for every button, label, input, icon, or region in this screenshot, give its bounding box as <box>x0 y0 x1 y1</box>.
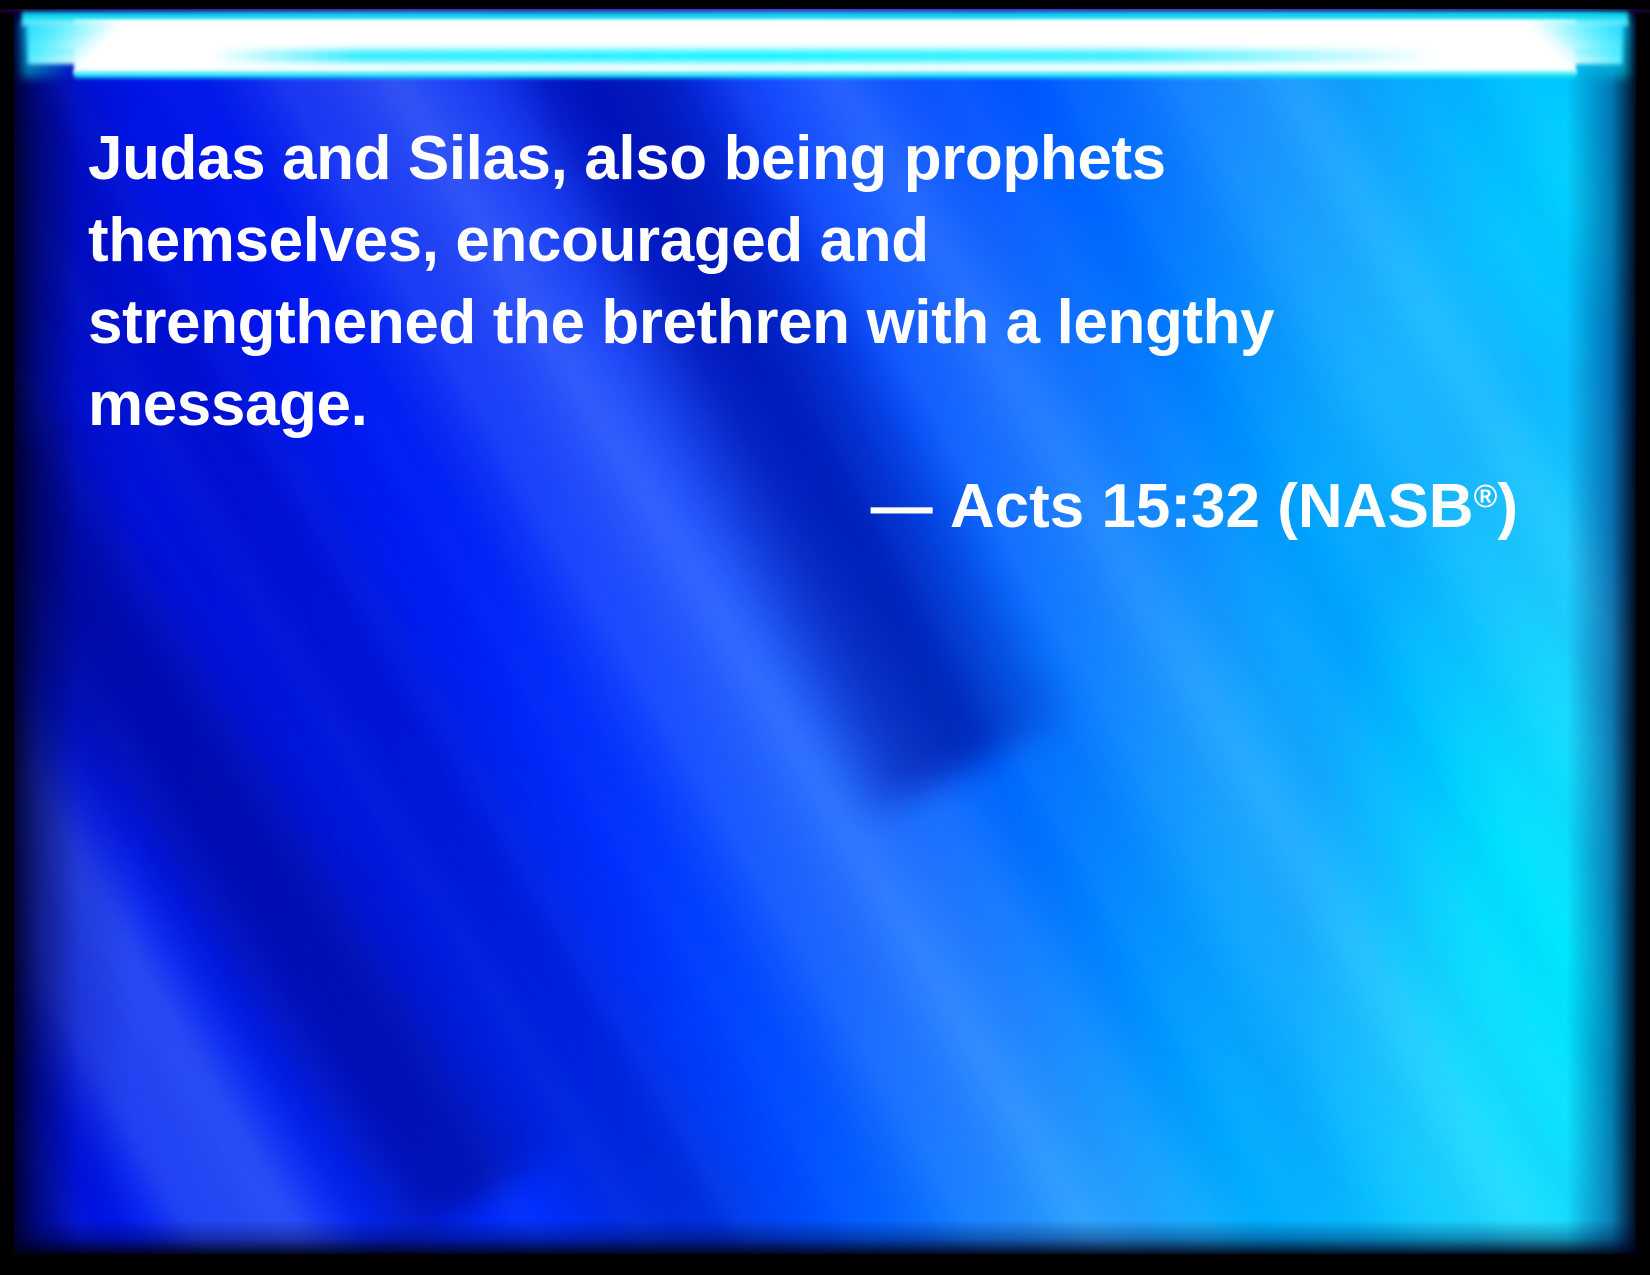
attribution-spacer-2 <box>1260 472 1277 541</box>
attribution-em-dash: — <box>871 472 933 541</box>
verse-attribution: — Acts 15:32 (NASB®) <box>88 455 1518 548</box>
verse-line-2: themselves, encouraged and <box>88 200 1488 282</box>
registered-trademark-icon: ® <box>1474 478 1498 514</box>
background-right-vignette <box>1566 8 1636 1254</box>
bible-verse-slide: Judas and Silas, also being prophets the… <box>0 0 1650 1275</box>
verse-line-4: message. <box>88 364 1488 446</box>
attribution-translation-open: (NASB <box>1277 472 1473 541</box>
verse-line-1: Judas and Silas, also being prophets <box>88 118 1488 200</box>
attribution-reference: Acts 15:32 <box>950 472 1260 541</box>
attribution-translation-close: ) <box>1497 472 1518 541</box>
verse-text-block: Judas and Silas, also being prophets the… <box>88 118 1488 446</box>
attribution-spacer-1 <box>933 472 950 541</box>
verse-line-3: strengthened the brethren with a lengthy <box>88 282 1488 364</box>
background-bottom-vignette <box>14 1220 1636 1254</box>
